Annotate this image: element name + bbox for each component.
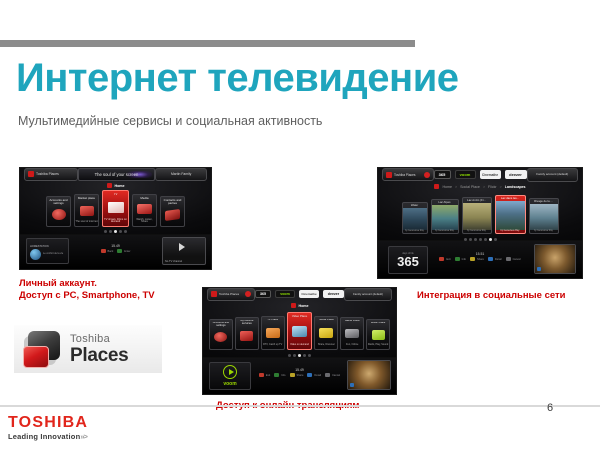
dot (479, 238, 482, 241)
photo-thumbnail (463, 203, 491, 230)
places-mark-icon (28, 171, 34, 177)
breadcrumb-item[interactable]: Home (442, 185, 452, 189)
preview-thumb[interactable] (534, 244, 576, 274)
photo-card[interactable]: Lac Alpes by Genevieve Ray (431, 199, 459, 234)
pagination-dots[interactable] (20, 230, 211, 233)
account-pill[interactable]: Toshiba Places (24, 168, 78, 181)
dot (293, 354, 296, 357)
account-pill[interactable]: Toshiba Places (207, 288, 255, 301)
photo-thumbnail (530, 204, 558, 230)
key-hint: Exit (439, 257, 450, 261)
widget-brand-label: voom (223, 381, 236, 387)
tile-subtitle: TV shows, Films on demand (103, 219, 128, 224)
tile-subtitle: DTV, Catch up TV (262, 344, 284, 347)
places-logo-places: Places (70, 346, 128, 365)
widget-subtitle: Le confort de la vie (43, 253, 63, 256)
brand-logo-row: 365 voom Cinemathe deezer (434, 170, 527, 179)
breadcrumb-current: Landscapes (505, 185, 526, 189)
tile[interactable]: Market place The soul of internet (74, 194, 99, 227)
key-hint: Detail (307, 373, 321, 377)
key-hint: Detail (488, 257, 502, 261)
user-pill-label: Martin Family (171, 172, 191, 176)
dot (124, 230, 127, 233)
breadcrumb: Home (203, 303, 396, 308)
user-pill[interactable]: Family account (default) (344, 288, 392, 301)
clock: 15.49 (295, 368, 304, 372)
dot (469, 238, 472, 241)
key-hint: Enter (117, 249, 130, 253)
dot (484, 238, 487, 241)
breadcrumb-current: Home (299, 304, 309, 308)
page-subtitle: Мультимедийные сервисы и социальная акти… (18, 114, 322, 128)
account-pill-label: Toshiba Places (36, 172, 59, 176)
tile-subtitle: Video on demand (288, 344, 312, 347)
tile-glyph-icon (367, 325, 389, 345)
tile-glyph-icon (210, 328, 232, 347)
thumb-label: No TV channel (165, 260, 182, 263)
key-hint: Cancel (325, 373, 340, 377)
tile[interactable]: My favorite services (235, 317, 259, 350)
tile-glyph-icon (288, 318, 312, 344)
tile-glyph-icon (262, 322, 284, 345)
user-pill-label: Family account (default) (353, 293, 383, 296)
key-hint: Share (290, 373, 304, 377)
photo-card[interactable]: Rivage de la ... by Genevieve Ray (529, 198, 559, 234)
dot (464, 238, 467, 241)
places-mark-icon (386, 172, 392, 178)
home-icon (434, 184, 439, 189)
toshiba-corporate-logo: TOSHIBA Leading Innovation»> (8, 414, 88, 442)
tile-glyph-icon (315, 322, 337, 345)
dot (109, 230, 112, 233)
breadcrumb: Home > Social Place > Flickr > Landscape… (378, 184, 582, 189)
title-rule (0, 40, 415, 47)
places-logo-mark-icon (20, 329, 66, 369)
promo-banner[interactable]: The soul of your screen (78, 168, 156, 181)
tagline-text: Leading Innovation (8, 432, 80, 441)
thumb-picture (348, 361, 390, 389)
photo-author: by Genevieve Ray (403, 230, 427, 233)
breadcrumb-separator: > (500, 185, 502, 189)
tagline-arrows-icon: »> (80, 432, 87, 441)
brand-365[interactable]: 365 (255, 290, 271, 298)
breadcrumb-current: Home (115, 184, 125, 188)
notify-icon[interactable] (245, 291, 251, 297)
tile-active[interactable]: TV TV shows, Films on demand (102, 190, 129, 227)
dot (474, 238, 477, 241)
brand-logo-row: 365 voom Cinemathe deezer (255, 290, 344, 298)
screenshot-places-home[interactable]: Toshiba Places The soul of your screen M… (19, 167, 212, 270)
breadcrumb-item[interactable]: Flickr (488, 185, 497, 189)
tile-subtitle: Watch, Listen, Share (133, 219, 156, 224)
dot (308, 354, 311, 357)
tile-glyph-icon (161, 205, 184, 224)
tile[interactable]: Accounts and settings (209, 319, 233, 350)
screenshot-places-grid[interactable]: Toshiba Places 365 voom Cinemathe deezer… (202, 287, 397, 395)
photo-thumbnail (432, 205, 458, 230)
tile-glyph-icon (236, 326, 258, 347)
tile[interactable]: Music Place Radio, Play, Sound (366, 319, 390, 350)
caption-personal-account: Личный аккаунт. Доступ с PC, Smartphone,… (19, 278, 155, 302)
tile-glyph-icon (133, 200, 156, 218)
toshiba-wordmark: TOSHIBA (8, 414, 88, 431)
thumb-badge-icon (537, 267, 541, 271)
clock: 15.49 (111, 244, 120, 248)
tile[interactable]: TV Place DTV, Catch up TV (261, 316, 285, 350)
key-hint: Info (455, 257, 466, 261)
photo-card[interactable]: Water by Genevieve Ray (402, 202, 428, 234)
brand-deezer[interactable]: deezer (323, 290, 344, 298)
notify-icon[interactable] (424, 172, 430, 178)
preview-thumb[interactable] (347, 360, 391, 390)
tile-subtitle: Fun, Online (341, 344, 363, 347)
tv-topbar: Toshiba Places 365 voom Cinemathe deezer… (378, 168, 582, 181)
tile-subtitle: Share, Discover (315, 344, 337, 347)
account-pill-label: Toshiba Places (219, 292, 239, 296)
brand-cinemathe[interactable]: Cinemathe (299, 290, 319, 298)
photo-author: by Genevieve Ray (530, 230, 558, 233)
dot-active (489, 238, 492, 241)
tile[interactable]: Social Place Share, Discover (314, 316, 338, 350)
user-pill[interactable]: Family account (default) (527, 168, 579, 182)
brand-365[interactable]: 365 (434, 170, 451, 179)
caption-line-2: Доступ с PC, Smartphone, TV (19, 290, 155, 302)
brand-cinemathe[interactable]: Cinemathe (480, 170, 501, 179)
breadcrumb-separator: > (455, 185, 457, 189)
photo-card-row: Water by Genevieve Ray Lac Alpes by Gene… (392, 194, 568, 234)
key-hints: Exit Info Share Detail Cancel (439, 257, 520, 261)
caption-line-1: Личный аккаунт. (19, 278, 155, 290)
tile-active[interactable]: Video Place Video on demand (287, 312, 313, 350)
pagination-dots[interactable] (378, 238, 582, 241)
breadcrumb: Home (20, 183, 211, 188)
photo-card-active[interactable]: Lac dans les... by Genevieve Ray (495, 195, 526, 234)
tile[interactable]: Game Place Fun, Online (340, 317, 364, 350)
places-mark-icon (211, 291, 217, 297)
tile[interactable]: Contacts and parties (160, 196, 185, 227)
caption-social-integration: Интеграция в социальные сети (417, 290, 566, 302)
key-hints: Exit Info Share Detail Cancel (259, 373, 340, 377)
toshiba-tagline: Leading Innovation»> (8, 432, 88, 442)
brand-voom[interactable]: voom (455, 170, 476, 179)
tv-topbar: Toshiba Places The soul of your screen M… (20, 168, 211, 180)
clock: 15.51 (476, 252, 485, 256)
dot (494, 238, 497, 241)
user-pill-label: Family account (default) (536, 173, 568, 176)
key-hint: Exit (259, 373, 270, 377)
places-logo-toshiba: Toshiba (70, 334, 128, 345)
photo-author: by Genevieve Ray (496, 230, 525, 233)
key-hint: Cancel (506, 257, 521, 261)
thumb-badge-icon (350, 383, 354, 387)
breadcrumb-separator: > (483, 185, 485, 189)
tv-preview-thumb[interactable]: No TV channel (162, 237, 206, 265)
key-hint: Info (274, 373, 285, 377)
photo-thumbnail (403, 208, 427, 230)
tile-glyph-icon (75, 200, 98, 221)
dot (104, 230, 107, 233)
toshiba-places-logo: Toshiba Places (14, 325, 162, 373)
photo-card[interactable]: Lac Anzin (Fr... by Genevieve Ray (462, 197, 492, 234)
tile-glyph-icon (47, 205, 70, 224)
thumb-picture (535, 245, 575, 273)
tile-row: Accounts and settings Market place The s… (44, 191, 187, 227)
account-pill[interactable]: Toshiba Places (382, 168, 434, 181)
banner-text: The soul of your screen (95, 172, 139, 177)
key-hints: Back Enter (101, 249, 131, 253)
photo-author: by Genevieve Ray (432, 230, 458, 233)
dot-active (114, 230, 117, 233)
tile-subtitle: The soul of internet (75, 221, 98, 224)
tile-row: Accounts and settings My favorite servic… (209, 312, 390, 350)
dot-active (298, 354, 301, 357)
dot (119, 230, 122, 233)
home-icon (107, 183, 112, 188)
account-pill-label: Toshiba Places (394, 173, 415, 177)
page-title: Интернет телевидение (16, 55, 459, 101)
tile-glyph-icon (341, 323, 363, 345)
photo-thumbnail (496, 201, 525, 230)
photo-author: by Genevieve Ray (463, 230, 491, 233)
page-number: 6 (540, 402, 560, 414)
logo-red-square (23, 346, 49, 368)
key-hint: Share (470, 257, 484, 261)
tile-subtitle: Radio, Play, Sound (367, 344, 389, 347)
dot (288, 354, 291, 357)
key-hint: Back (101, 249, 114, 253)
breadcrumb-item[interactable]: Social Place (460, 185, 480, 189)
pagination-dots[interactable] (203, 354, 396, 357)
screenshot-flickr-landscapes[interactable]: Toshiba Places 365 voom Cinemathe deezer… (377, 167, 583, 279)
brand-deezer[interactable]: deezer (505, 170, 527, 179)
brand-voom[interactable]: voom (275, 290, 295, 298)
tile[interactable]: Accounts and settings (46, 196, 71, 227)
tile-glyph-icon (103, 196, 128, 218)
tile[interactable]: Media Watch, Listen, Share (132, 194, 157, 227)
slide-root: Интернет телевидение Мультимедийные серв… (0, 0, 600, 450)
user-pill[interactable]: Martin Family (155, 168, 207, 181)
thumb-play-icon (179, 243, 185, 251)
tv-topbar: Toshiba Places 365 voom Cinemathe deezer… (203, 288, 396, 300)
places-logo-text: Toshiba Places (70, 334, 128, 365)
dot (303, 354, 306, 357)
footer-divider (0, 405, 600, 407)
home-icon (291, 303, 296, 308)
